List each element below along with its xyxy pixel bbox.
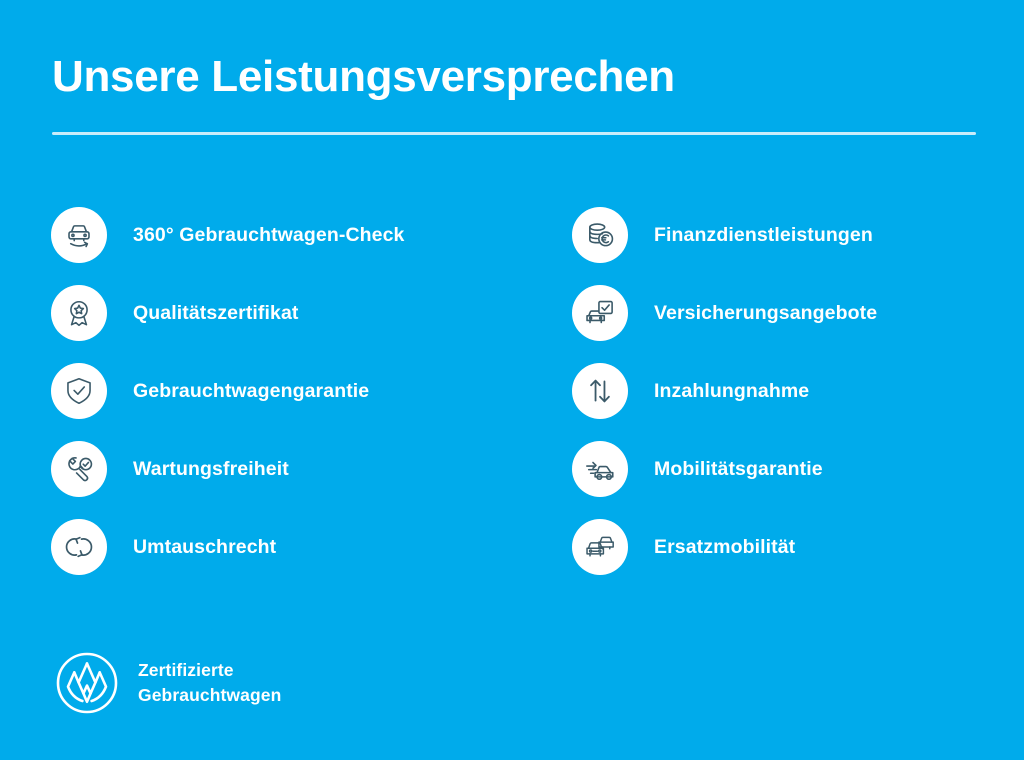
- car-check-360-icon: [51, 207, 107, 263]
- volkswagen-logo-icon: [54, 650, 120, 716]
- list-item-label: Ersatzmobilität: [654, 536, 795, 559]
- award-rosette-icon: [51, 285, 107, 341]
- arrows-up-down-icon: [572, 363, 628, 419]
- wrench-check-icon: [51, 441, 107, 497]
- bottom-white-strip: [0, 760, 1024, 768]
- list-item[interactable]: Wartungsfreiheit: [51, 430, 521, 508]
- list-item-label: Inzahlungnahme: [654, 380, 809, 403]
- list-item-label: Wartungsfreiheit: [133, 458, 289, 481]
- brand-lockup: Zertifizierte Gebrauchtwagen: [54, 650, 281, 716]
- list-item-label: Qualitätszertifikat: [133, 302, 299, 325]
- brand-text-line1: Zertifizierte: [138, 658, 281, 683]
- list-item-label: Finanzdienstleistungen: [654, 224, 873, 247]
- list-item-label: Umtauschrecht: [133, 536, 276, 559]
- promises-left-column: 360° Gebrauchtwagen-Check Qualitätszerti…: [51, 196, 521, 586]
- list-item-label: Mobilitätsgarantie: [654, 458, 823, 481]
- list-item[interactable]: Qualitätszertifikat: [51, 274, 521, 352]
- list-item[interactable]: Inzahlungnahme: [572, 352, 992, 430]
- list-item[interactable]: Umtauschrecht: [51, 508, 521, 586]
- coins-euro-icon: [572, 207, 628, 263]
- list-item[interactable]: Versicherungsangebote: [572, 274, 992, 352]
- list-item[interactable]: Gebrauchtwagengarantie: [51, 352, 521, 430]
- shield-check-icon: [51, 363, 107, 419]
- exchange-arrows-icon: [51, 519, 107, 575]
- list-item-label: Gebrauchtwagengarantie: [133, 380, 369, 403]
- title-divider: [52, 132, 976, 135]
- promises-right-column: Finanzdienstleistungen Versicherungsange…: [572, 196, 992, 586]
- list-item-label: 360° Gebrauchtwagen-Check: [133, 224, 404, 247]
- two-cars-icon: [572, 519, 628, 575]
- page-title: Unsere Leistungsversprechen: [52, 52, 675, 103]
- list-item-label: Versicherungsangebote: [654, 302, 877, 325]
- list-item[interactable]: Ersatzmobilität: [572, 508, 992, 586]
- car-document-check-icon: [572, 285, 628, 341]
- brand-text: Zertifizierte Gebrauchtwagen: [138, 658, 281, 708]
- list-item[interactable]: Finanzdienstleistungen: [572, 196, 992, 274]
- list-item[interactable]: Mobilitätsgarantie: [572, 430, 992, 508]
- list-item[interactable]: 360° Gebrauchtwagen-Check: [51, 196, 521, 274]
- brand-text-line2: Gebrauchtwagen: [138, 683, 281, 708]
- slide-canvas: Unsere Leistungsversprechen 360° Ge: [0, 0, 1024, 760]
- car-speed-icon: [572, 441, 628, 497]
